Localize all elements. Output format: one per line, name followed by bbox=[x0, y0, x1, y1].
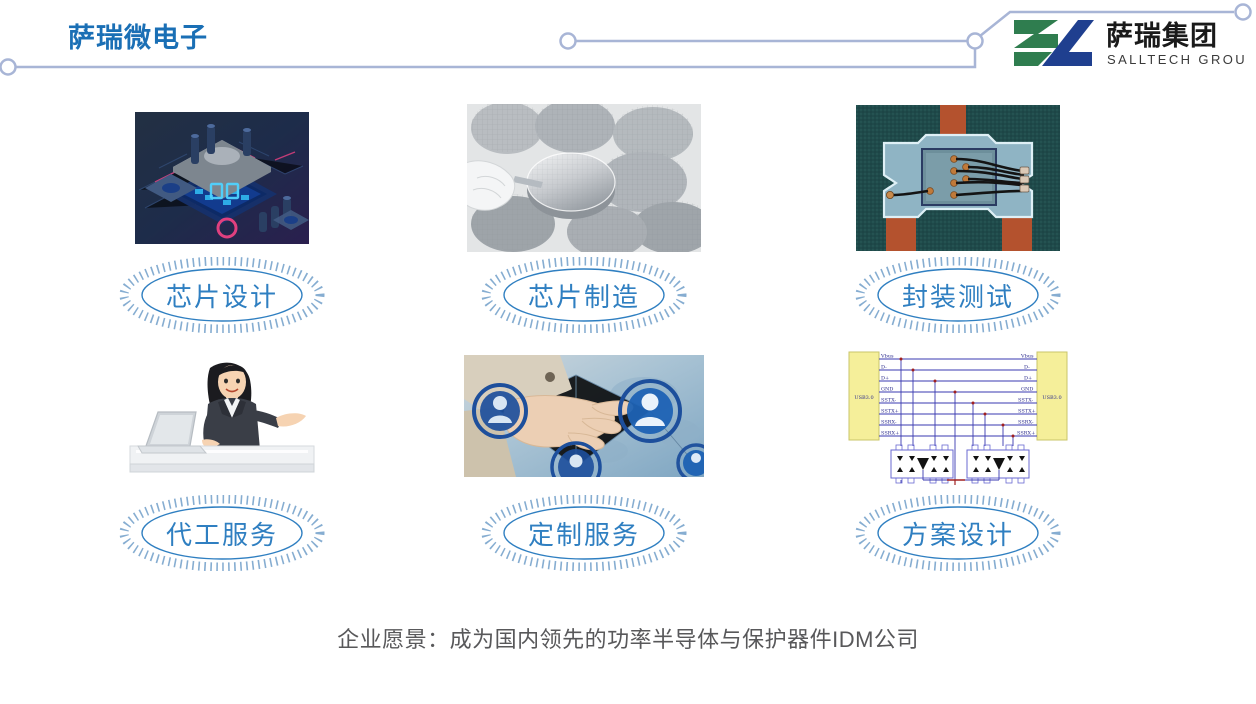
label-oval-chip-design: 芯片设计 bbox=[115, 257, 329, 333]
label-oval-chip-manufacturing: 芯片制造 bbox=[477, 257, 691, 333]
brand-logo: 萨瑞集团 SALLTECH GROUP bbox=[1008, 12, 1248, 74]
thumb-wrap: USB3.0 USB3.0 bbox=[772, 342, 1144, 490]
deco-node-junction bbox=[968, 34, 983, 49]
deco-node-left bbox=[1, 60, 16, 75]
chip-design-isometric-circuit-photo bbox=[135, 112, 309, 244]
label-oval-custom-service: 定制服务 bbox=[477, 495, 691, 571]
service-label: 代工服务 bbox=[166, 515, 278, 552]
thumb-wrap bbox=[398, 104, 770, 252]
thumb-wrap bbox=[398, 342, 770, 490]
service-card-foundry-service[interactable]: 代工服务 bbox=[36, 338, 408, 578]
logo-en-name: SALLTECH GROUP bbox=[1107, 52, 1248, 67]
foundry-service-businesswoman-illustration bbox=[124, 354, 320, 478]
custom-service-network-touch-photo bbox=[464, 355, 704, 477]
service-label: 芯片制造 bbox=[528, 277, 640, 314]
vision-caption: 企业愿景：成为国内领先的功率半导体与保护器件IDM公司 bbox=[0, 622, 1256, 654]
solution-design-usb3-esd-schematic: USB3.0 USB3.0 bbox=[843, 346, 1073, 486]
label-wrap: 方案设计 bbox=[772, 493, 1144, 573]
svg-text:SSTX-: SSTX- bbox=[1018, 398, 1033, 404]
svg-text:D+: D+ bbox=[881, 376, 889, 382]
label-oval-solution-design: 方案设计 bbox=[851, 495, 1065, 571]
thumb-wrap bbox=[36, 104, 408, 252]
logo-cn-name: 萨瑞集团 bbox=[1106, 20, 1218, 52]
service-card-package-test[interactable]: 封装测试 bbox=[772, 100, 1144, 340]
service-label: 芯片设计 bbox=[166, 277, 278, 314]
label-oval-package-test: 封装测试 bbox=[851, 257, 1065, 333]
service-label: 封装测试 bbox=[902, 277, 1014, 314]
schematic-left-connector-label: USB3.0 bbox=[854, 395, 873, 401]
label-wrap: 定制服务 bbox=[398, 493, 770, 573]
svg-text:SSRX+: SSRX+ bbox=[1017, 431, 1035, 437]
package-test-wirebond-microscope-photo bbox=[856, 105, 1060, 251]
service-label: 方案设计 bbox=[902, 515, 1014, 552]
service-label: 定制服务 bbox=[528, 515, 640, 552]
svg-text:Vbus: Vbus bbox=[1020, 354, 1034, 360]
svg-text:D+: D+ bbox=[1024, 376, 1032, 382]
service-card-custom-service[interactable]: 定制服务 bbox=[398, 338, 770, 578]
wafer-manufacturing-photo bbox=[467, 104, 701, 252]
svg-text:SSRX-: SSRX- bbox=[881, 420, 897, 426]
svg-text:D-: D- bbox=[881, 365, 887, 371]
svg-text:GND: GND bbox=[1021, 387, 1033, 393]
svg-text:GND: GND bbox=[881, 387, 893, 393]
svg-text:SSRX-: SSRX- bbox=[1018, 420, 1034, 426]
label-wrap: 代工服务 bbox=[36, 493, 408, 573]
label-oval-foundry-service: 代工服务 bbox=[115, 495, 329, 571]
label-wrap: 芯片制造 bbox=[398, 255, 770, 335]
service-card-grid: 芯片设计 bbox=[0, 100, 1256, 590]
service-card-chip-design[interactable]: 芯片设计 bbox=[36, 100, 408, 340]
page-title: 萨瑞微电子 bbox=[68, 16, 208, 55]
svg-text:Vbus: Vbus bbox=[880, 354, 894, 360]
thumb-wrap bbox=[36, 342, 408, 490]
label-wrap: 封装测试 bbox=[772, 255, 1144, 335]
service-card-chip-manufacturing[interactable]: 芯片制造 bbox=[398, 100, 770, 340]
svg-text:D-: D- bbox=[1024, 365, 1030, 371]
service-card-solution-design[interactable]: USB3.0 USB3.0 bbox=[772, 338, 1144, 578]
svg-text:SSTX+: SSTX+ bbox=[1018, 409, 1036, 415]
page-header: 萨瑞微电子 萨瑞集团 SALLTECH GROUP bbox=[0, 0, 1256, 96]
label-wrap: 芯片设计 bbox=[36, 255, 408, 335]
svg-text:SSRX+: SSRX+ bbox=[881, 431, 899, 437]
deco-node-middle bbox=[561, 34, 576, 49]
svg-text:SSTX+: SSTX+ bbox=[881, 409, 899, 415]
thumb-wrap bbox=[772, 104, 1144, 252]
svg-text:SSTX-: SSTX- bbox=[881, 398, 896, 404]
schematic-right-connector-label: USB3.0 bbox=[1042, 395, 1061, 401]
